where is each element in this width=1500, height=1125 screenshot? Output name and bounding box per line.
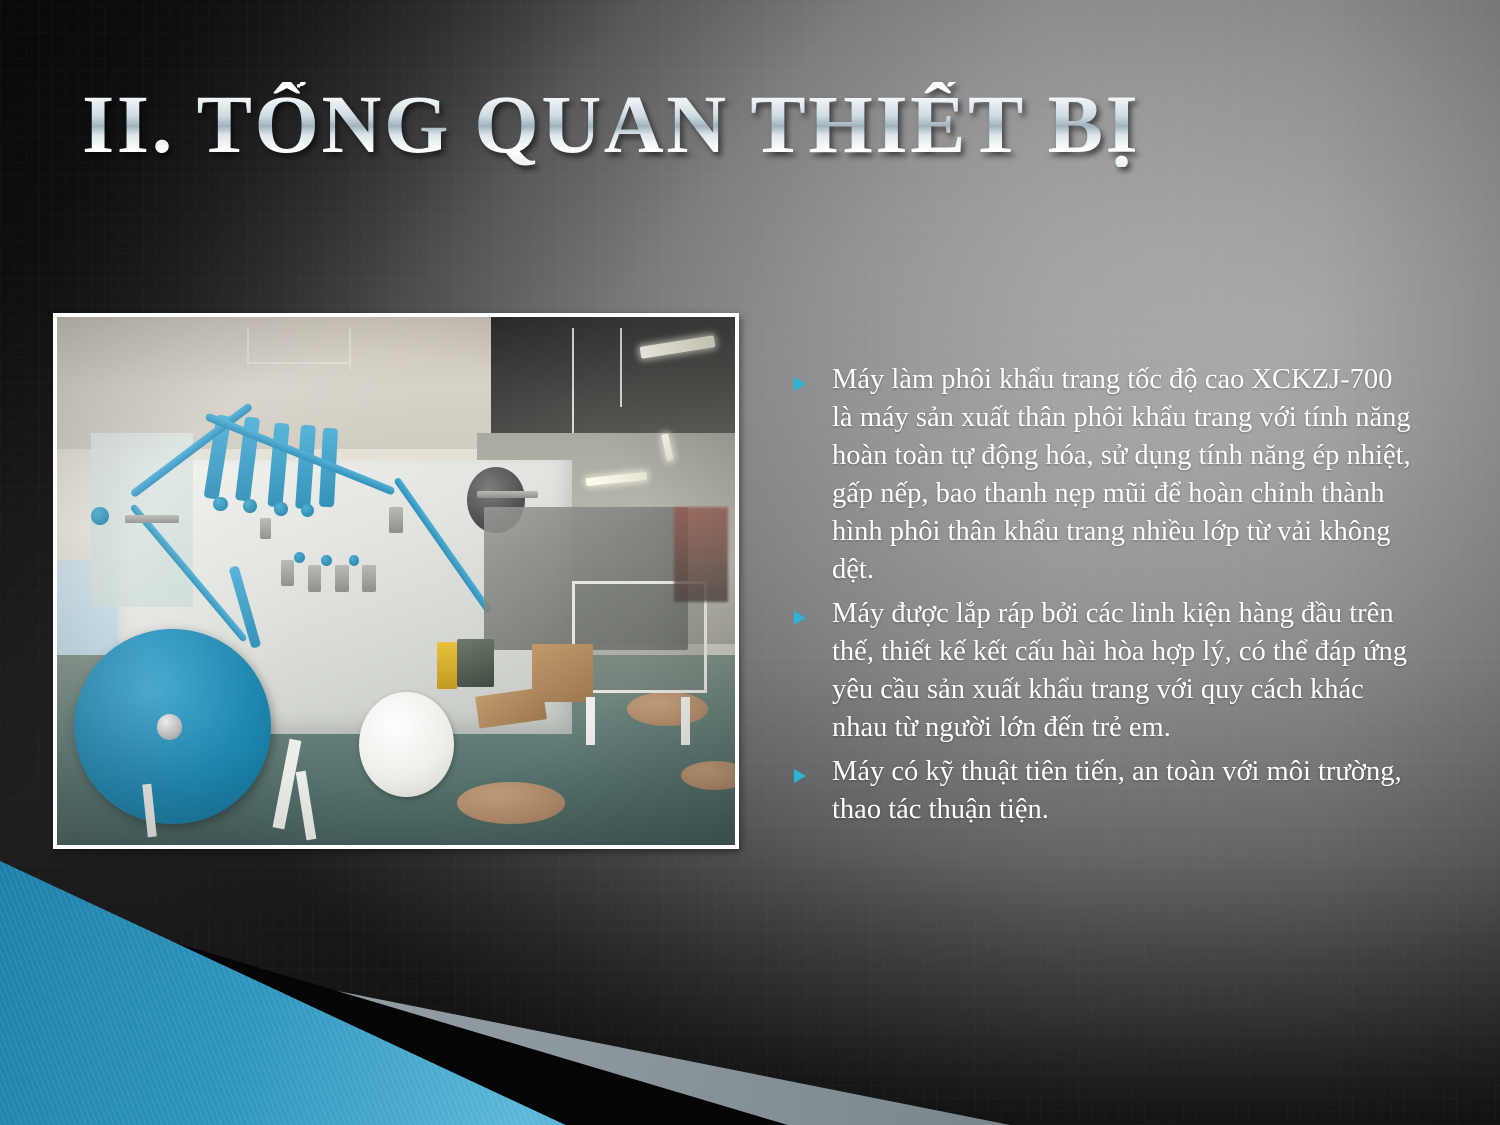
photo-hanger-rod [349, 328, 351, 370]
photo-roller [308, 565, 322, 591]
photo-blue-fabric-roll [74, 629, 271, 824]
photo-blue-hub [213, 497, 228, 512]
photo-blue-hub [274, 502, 288, 516]
bullet-text: Máy có kỹ thuật tiên tiến, an toàn với m… [832, 753, 1418, 829]
bullet-item: Máy làm phôi khẩu trang tốc độ cao XCKZJ… [790, 361, 1418, 589]
triangle-right-icon [790, 595, 832, 627]
photo-roller [362, 565, 376, 591]
presentation-slide: II. TỔNG QUAN THIẾT BỊ [0, 0, 1500, 1125]
bullet-item: Máy có kỹ thuật tiên tiến, an toàn với m… [790, 753, 1418, 829]
photo-roller-shaft [477, 491, 538, 498]
photo-blue-hub [349, 555, 360, 566]
photo-floor-mark [457, 782, 565, 824]
photo-workers [674, 507, 728, 602]
photo-hanger-rod [572, 328, 574, 434]
photo-roller [335, 565, 349, 591]
photo-rack-leg [586, 697, 595, 745]
photo-hanger-rod [620, 328, 622, 407]
photo-roller-shaft [125, 515, 179, 523]
bullet-item: Máy được lắp ráp bởi các linh kiện hàng … [790, 595, 1418, 747]
bullet-text: Máy được lắp ráp bởi các linh kiện hàng … [832, 595, 1418, 747]
triangle-right-icon [790, 753, 832, 785]
photo-roller [389, 507, 403, 533]
photo-rack-leg [681, 697, 690, 745]
photo-roller [281, 560, 295, 586]
photo-roller [260, 518, 271, 539]
photo-hanger-rail [247, 362, 349, 364]
photo-floor-mark [627, 692, 708, 726]
photo-blue-hub [301, 504, 314, 517]
photo-blue-hub [243, 499, 257, 513]
bullet-list: Máy làm phôi khẩu trang tốc độ cao XCKZJ… [790, 361, 1418, 835]
slide-title: II. TỔNG QUAN THIẾT BỊ [82, 82, 1262, 167]
triangle-right-icon [790, 361, 832, 393]
photo-yellow-panel [437, 642, 457, 690]
machine-photo-frame [53, 313, 739, 849]
machine-photo [57, 317, 735, 845]
photo-blue-hub [91, 507, 109, 525]
photo-floor-mark [681, 761, 735, 790]
photo-white-fabric-roll [359, 692, 454, 798]
photo-hanger-rod [247, 328, 249, 365]
bullet-text: Máy làm phôi khẩu trang tốc độ cao XCKZJ… [832, 361, 1418, 589]
photo-blue-hub [321, 555, 332, 566]
photo-control-panel [457, 639, 494, 687]
